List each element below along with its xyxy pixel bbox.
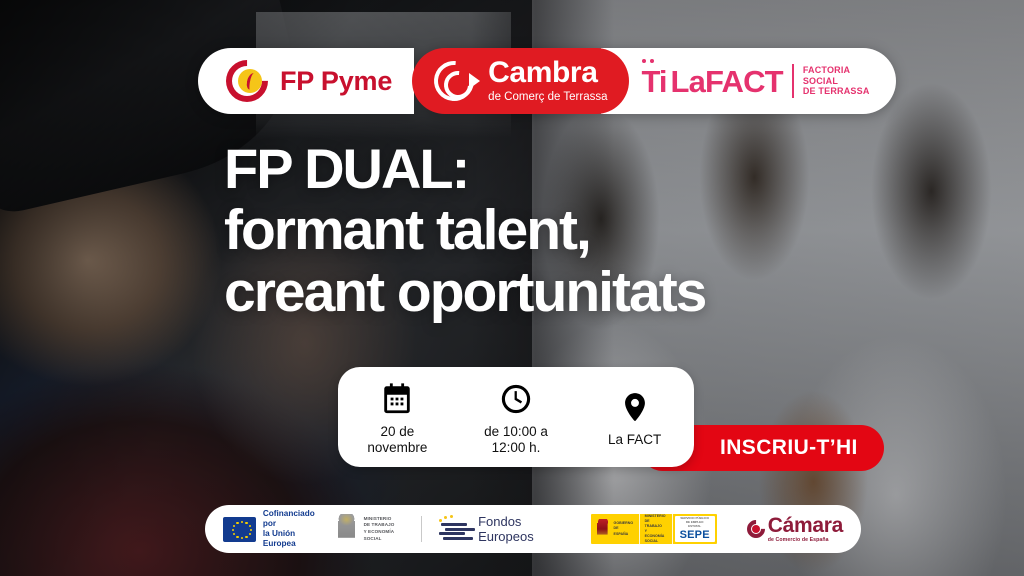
event-time-line1: de 10:00 a <box>484 424 548 439</box>
cambra-logo: Cambra de Comerç de Terrassa <box>412 48 629 114</box>
event-time-line2: 12:00 h. <box>492 440 541 455</box>
lafact-prefix: Ti <box>641 66 666 97</box>
headline-line-1: FP DUAL: <box>224 142 705 197</box>
event-location: La FACT <box>575 386 694 448</box>
sepe-logo: GOBIERNO DE ESPAÑA MINISTERIO DE TRABAJO… <box>591 514 717 544</box>
cambra-wordmark: Cambra de Comerç de Terrassa <box>488 58 607 104</box>
funders-bar: Cofinanciado por la Unión Europea MINIST… <box>205 505 861 553</box>
headline-line-3: creant oportunitats <box>224 265 705 321</box>
camara-subtitle: de Comercio de España <box>768 538 843 543</box>
page-title: FP DUAL: formant talent, creant oportuni… <box>224 142 705 321</box>
funders-divider-1 <box>421 516 422 542</box>
camara-logo: Cámara de Comercio de España <box>747 515 843 543</box>
sepe-box-caption: SERVICIO PÚBLICO DE EMPLEO ESTATAL <box>680 517 710 529</box>
logo-bar: FP Pyme Cambra de Comerç de Terrassa Ti … <box>198 48 896 114</box>
eu-flag-icon <box>223 517 256 542</box>
eu-cofunding-line2: la Unión Europea <box>263 529 296 548</box>
ministerio-line3: Y ECONOMÍA SOCIAL <box>364 529 394 541</box>
fp-pyme-logo: FP Pyme <box>198 48 414 114</box>
eu-cofunding-logo: Cofinanciado por la Unión Europea <box>223 509 321 550</box>
sepe-acronym: SEPE <box>680 529 710 541</box>
fp-pyme-logo-icon <box>226 60 268 102</box>
ministerio-line1: MINISTERIO <box>364 516 392 521</box>
sepe-gob-line2: DE ESPAÑA <box>614 526 629 535</box>
lafact-logo: Ti LaFACT FACTORIA SOCIAL DE TERRASSA <box>601 48 895 114</box>
camara-name: Cámara <box>768 515 843 536</box>
sepe-box-line2: DE EMPLEO ESTATAL <box>686 520 704 528</box>
sepe-min-line2: DE TRABAJO <box>645 519 662 528</box>
promo-banner: FP Pyme Cambra de Comerç de Terrassa Ti … <box>0 0 1024 576</box>
sepe-min-line3: Y ECONOMÍA SOCIAL <box>645 529 665 543</box>
umlaut-icon <box>642 59 667 63</box>
sepe-gob-line1: GOBIERNO <box>614 521 634 525</box>
lafact-tagline: FACTORIA SOCIAL DE TERRASSA <box>803 65 870 97</box>
sepe-acronym-box: SERVICIO PÚBLICO DE EMPLEO ESTATAL SEPE <box>675 516 715 542</box>
headline-line-2: formant talent, <box>224 203 705 259</box>
lafact-tagline-line2: SOCIAL <box>803 76 870 87</box>
event-location-label: La FACT <box>608 432 661 448</box>
ministerio-line2: DE TRABAJO <box>364 522 395 527</box>
lafact-name: LaFACT <box>670 66 782 97</box>
ministerio-label: MINISTERIO DE TRABAJO Y ECONOMÍA SOCIAL <box>364 516 407 543</box>
fondos-europeos-logo: Fondos Europeos <box>435 514 567 544</box>
event-date-line1: 20 de <box>380 424 414 439</box>
eu-cofunding-line1: Cofinanciado por <box>263 509 315 528</box>
lafact-tagline-line3: DE TERRASSA <box>803 86 870 97</box>
cambra-logo-icon <box>434 61 474 101</box>
event-time: de 10:00 a 12:00 h. <box>457 378 576 457</box>
sepe-gobierno-segment: GOBIERNO DE ESPAÑA <box>591 514 640 544</box>
lafact-tagline-line1: FACTORIA <box>803 65 870 76</box>
clock-icon <box>499 382 533 416</box>
camara-logo-icon <box>747 520 765 538</box>
sepe-ministerio-segment: MINISTERIO DE TRABAJO Y ECONOMÍA SOCIAL <box>640 514 673 544</box>
fondos-europeos-label: Fondos Europeos <box>478 514 567 544</box>
cambra-subtitle: de Comerç de Terrassa <box>488 92 607 104</box>
sepe-gobierno-label: GOBIERNO DE ESPAÑA <box>614 521 634 536</box>
spain-coat-of-arms-icon <box>596 519 610 539</box>
event-details-card: 20 de novembre de 10:00 a 12:00 h. La FA… <box>338 367 694 467</box>
event-time-label: de 10:00 a 12:00 h. <box>484 424 548 457</box>
register-button-label: INSCRIU-T’HI <box>720 436 858 460</box>
fp-pyme-label: FP Pyme <box>280 66 392 97</box>
gobierno-espana-logo: MINISTERIO DE TRABAJO Y ECONOMÍA SOCIAL <box>335 514 406 544</box>
fondos-europeos-icon <box>435 516 470 542</box>
sepe-ministerio-label: MINISTERIO DE TRABAJO Y ECONOMÍA SOCIAL <box>645 514 667 544</box>
event-date-line2: novembre <box>367 440 427 455</box>
sepe-min-line1: MINISTERIO <box>645 514 666 518</box>
event-date-label: 20 de novembre <box>367 424 427 457</box>
cambra-name: Cambra <box>488 58 607 88</box>
eu-cofunding-label: Cofinanciado por la Unión Europea <box>263 509 321 550</box>
spain-coat-of-arms-icon <box>335 514 357 544</box>
event-date: 20 de novembre <box>338 378 457 457</box>
location-pin-icon <box>618 390 652 424</box>
calendar-icon <box>380 382 414 416</box>
lafact-divider <box>792 64 794 98</box>
